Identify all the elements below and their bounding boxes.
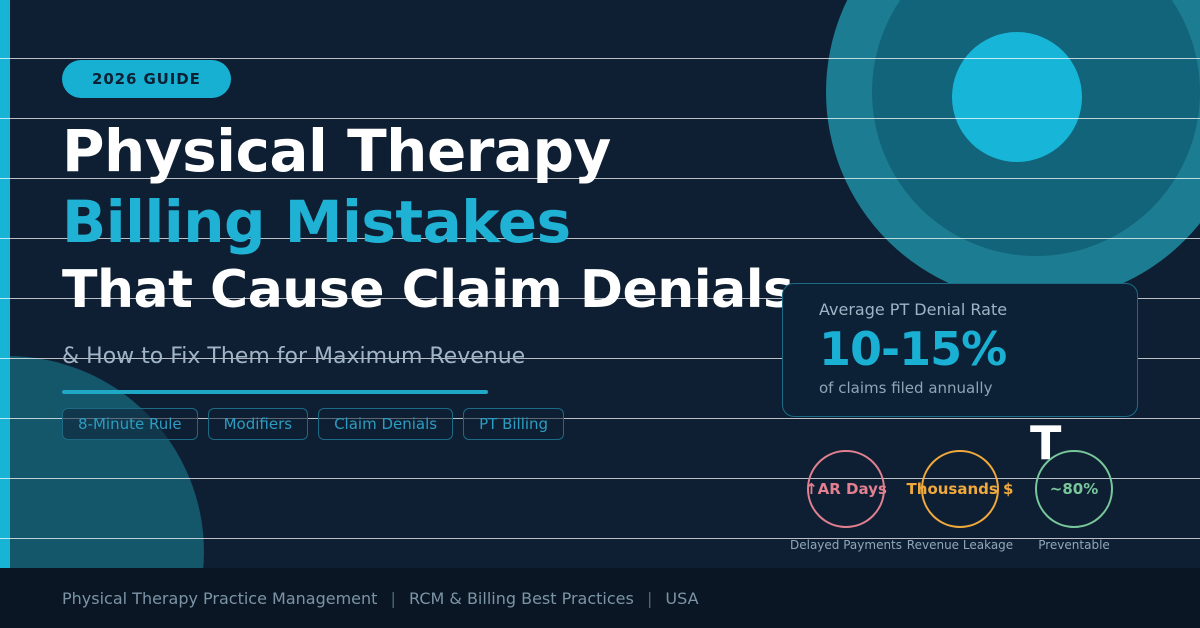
stat-card: Average PT Denial Rate 10-15% of claims … xyxy=(782,283,1138,417)
accent-divider xyxy=(62,390,488,394)
metric-circle-group: ↑AR DaysDelayed PaymentsThousands $Reven… xyxy=(790,450,1130,552)
footer-separator-2: | xyxy=(639,589,660,608)
metric-circle: Thousands $Revenue Leakage xyxy=(904,450,1016,552)
metric-caption: Preventable xyxy=(1038,538,1110,552)
page-title: Physical Therapy Billing Mistakes That C… xyxy=(62,122,822,317)
headline-line-3: That Cause Claim Denials xyxy=(62,264,822,317)
topic-pill[interactable]: Claim Denials xyxy=(318,408,453,440)
metric-caption: Revenue Leakage xyxy=(907,538,1013,552)
metric-circle: ~80%Preventable xyxy=(1018,450,1130,552)
topic-pill[interactable]: Modifiers xyxy=(208,408,308,440)
topic-pill[interactable]: PT Billing xyxy=(463,408,564,440)
stat-card-sublabel: of claims filed annually xyxy=(819,379,1137,397)
footer-part-1: Physical Therapy Practice Management xyxy=(62,589,377,608)
guide-badge: 2026 GUIDE xyxy=(62,60,231,98)
metric-ring: Thousands $ xyxy=(921,450,999,528)
footer-bar: Physical Therapy Practice Management | R… xyxy=(0,568,1200,628)
headline-line-1: Physical Therapy xyxy=(62,122,822,181)
footer-part-2: RCM & Billing Best Practices xyxy=(409,589,634,608)
metric-value: ~80% xyxy=(1050,480,1098,498)
metric-caption: Delayed Payments xyxy=(790,538,902,552)
footer-part-3: USA xyxy=(665,589,698,608)
poster-content: 2026 GUIDE Physical Therapy Billing Mist… xyxy=(0,0,1200,568)
footer-separator-1: | xyxy=(383,589,404,608)
metric-value: ↑AR Days xyxy=(805,480,887,498)
guide-badge-label: 2026 GUIDE xyxy=(92,70,201,88)
stat-card-value: 10-15% xyxy=(819,325,1137,373)
subtitle: & How to Fix Them for Maximum Revenue xyxy=(62,344,525,369)
metric-value: Thousands $ xyxy=(907,480,1014,498)
headline-line-2: Billing Mistakes xyxy=(62,193,822,252)
metric-ring: ↑AR Days xyxy=(807,450,885,528)
topic-pill[interactable]: 8-Minute Rule xyxy=(62,408,198,440)
stat-card-label: Average PT Denial Rate xyxy=(819,300,1137,319)
footer-text: Physical Therapy Practice Management | R… xyxy=(62,589,699,608)
metric-circle: ↑AR DaysDelayed Payments xyxy=(790,450,902,552)
metric-ring: ~80% xyxy=(1035,450,1113,528)
poster-canvas: 2026 GUIDE Physical Therapy Billing Mist… xyxy=(0,0,1200,628)
topic-pill-list: 8-Minute RuleModifiersClaim DenialsPT Bi… xyxy=(62,408,564,440)
